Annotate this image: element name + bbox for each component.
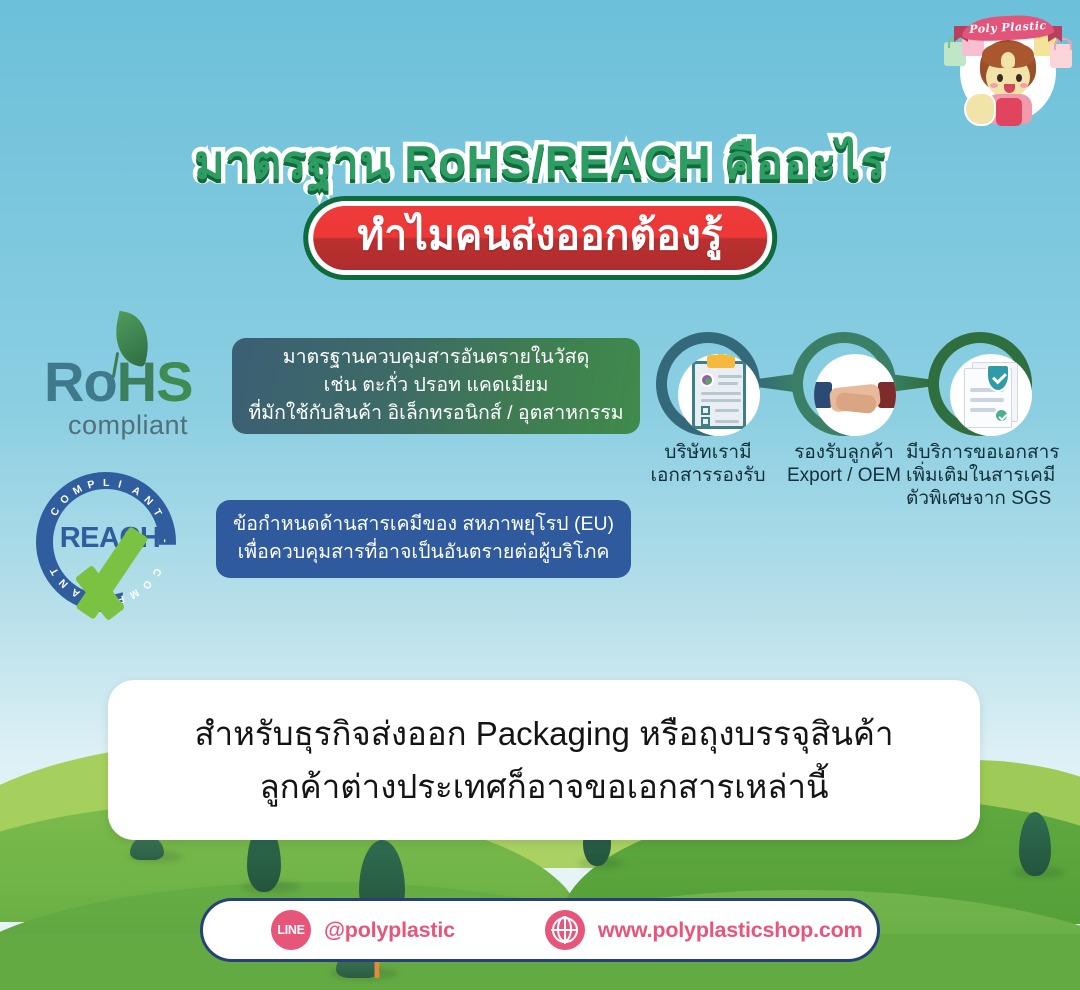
logo-text: Poly Plastic bbox=[961, 14, 1054, 43]
services-chain: บริษัทเรามี เอกสารรองรับ รองรับลูกค้า Ex… bbox=[650, 330, 1070, 515]
reach-compliant-logo: COMPLIANT - COMPLIANT REACH bbox=[28, 466, 208, 636]
rohs-compliant-logo: RoHS compliant bbox=[30, 310, 230, 440]
logo-ribbon: Poly Plastic bbox=[961, 14, 1054, 43]
service-label-documents: บริษัทเรามี เอกสารรองรับ bbox=[642, 442, 774, 488]
service-label-sgs: มีบริการขอเอกสาร เพิ่มเติมในสารเคมี ตัวพ… bbox=[906, 442, 1074, 510]
rohs-line: มาตรฐานควบคุมสารอันตรายในวัสดุ bbox=[232, 344, 640, 372]
line-id-text: @polyplastic bbox=[324, 918, 455, 943]
callout-line: สำหรับธุรกิจส่งออก Packaging หรือถุงบรรจ… bbox=[194, 707, 893, 760]
subtitle-pill: ทำไมคนส่งออกต้องรู้ bbox=[303, 196, 777, 280]
reach-description-box: ข้อกำหนดด้านสารเคมีของ สหภาพยุโรป (EU) เ… bbox=[216, 500, 631, 578]
rohs-line: เช่น ตะกั่ว ปรอท แคดเมียม bbox=[232, 372, 640, 400]
brand-logo[interactable]: Poly Plastic bbox=[944, 4, 1072, 130]
mascot-apron bbox=[996, 98, 1022, 126]
contact-line[interactable]: LINE @polyplastic bbox=[271, 910, 455, 950]
rohs-line: ที่มักใช้กับสินค้า อิเล็กทรอนิกส์ / อุตส… bbox=[232, 400, 640, 428]
service-line: บริษัทเรามี bbox=[642, 442, 774, 465]
service-line: Export / OEM bbox=[778, 465, 910, 488]
contact-website[interactable]: www.polyplasticshop.com bbox=[545, 910, 863, 950]
rohs-wordmark: RoHS bbox=[44, 354, 192, 410]
service-line: รองรับลูกค้า bbox=[778, 442, 910, 465]
tree-icon bbox=[1016, 806, 1054, 876]
service-line: มีบริการขอเอกสาร bbox=[906, 442, 1074, 465]
callout-card: สำหรับธุรกิจส่งออก Packaging หรือถุงบรรจ… bbox=[108, 680, 980, 840]
chain-connector bbox=[754, 374, 794, 392]
callout-line: ลูกค้าต่างประเทศก็อาจขอเอกสารเหล่านี้ bbox=[259, 760, 828, 813]
website-text: www.polyplasticshop.com bbox=[598, 918, 863, 943]
mascot-eye bbox=[997, 74, 1003, 82]
mascot-bag-icon bbox=[1050, 44, 1072, 68]
service-line: ตัวพิเศษจาก SGS bbox=[906, 488, 1074, 511]
handshake-icon bbox=[814, 354, 896, 436]
green-check-icon bbox=[83, 510, 183, 616]
mascot-bangs bbox=[982, 42, 1034, 68]
service-line: เพิ่มเติมในสารเคมี bbox=[906, 465, 1074, 488]
globe-icon bbox=[545, 910, 585, 950]
mascot-eye bbox=[1016, 74, 1022, 82]
service-circle-documents[interactable] bbox=[656, 332, 760, 436]
mascot-thumbs-up-icon bbox=[964, 92, 996, 126]
shield-document-icon bbox=[964, 362, 1020, 428]
rohs-description-box: มาตรฐานควบคุมสารอันตรายในวัสดุ เช่น ตะกั… bbox=[232, 338, 640, 434]
contact-bar: LINE @polyplastic www.polyplasticshop.co… bbox=[200, 898, 880, 962]
subtitle-text: ทำไมคนส่งออกต้องรู้ bbox=[357, 212, 723, 258]
reach-line: ข้อกำหนดด้านสารเคมีของ สหภาพยุโรป (EU) bbox=[216, 511, 631, 539]
service-label-export: รองรับลูกค้า Export / OEM bbox=[778, 442, 910, 488]
reach-line: เพื่อควบคุมสารที่อาจเป็นอันตรายต่อผู้บริ… bbox=[216, 539, 631, 567]
title-area: มาตรฐาน RoHS/REACH คืออะไร bbox=[0, 126, 1080, 199]
chain-connector bbox=[890, 374, 930, 392]
clipboard-check-icon bbox=[692, 361, 746, 429]
page-title: มาตรฐาน RoHS/REACH คืออะไร bbox=[194, 126, 886, 199]
infographic-canvas: Poly Plastic มาตรฐาน RoHS/REACH คืออะไร … bbox=[0, 0, 1080, 990]
line-icon: LINE bbox=[271, 910, 311, 950]
mascot-cheek bbox=[1020, 83, 1028, 88]
service-line: เอกสารรองรับ bbox=[642, 465, 774, 488]
service-circle-export[interactable] bbox=[792, 332, 896, 436]
service-circle-sgs[interactable] bbox=[928, 332, 1032, 436]
mascot-cheek bbox=[990, 83, 998, 88]
rohs-sublabel: compliant bbox=[68, 410, 188, 441]
